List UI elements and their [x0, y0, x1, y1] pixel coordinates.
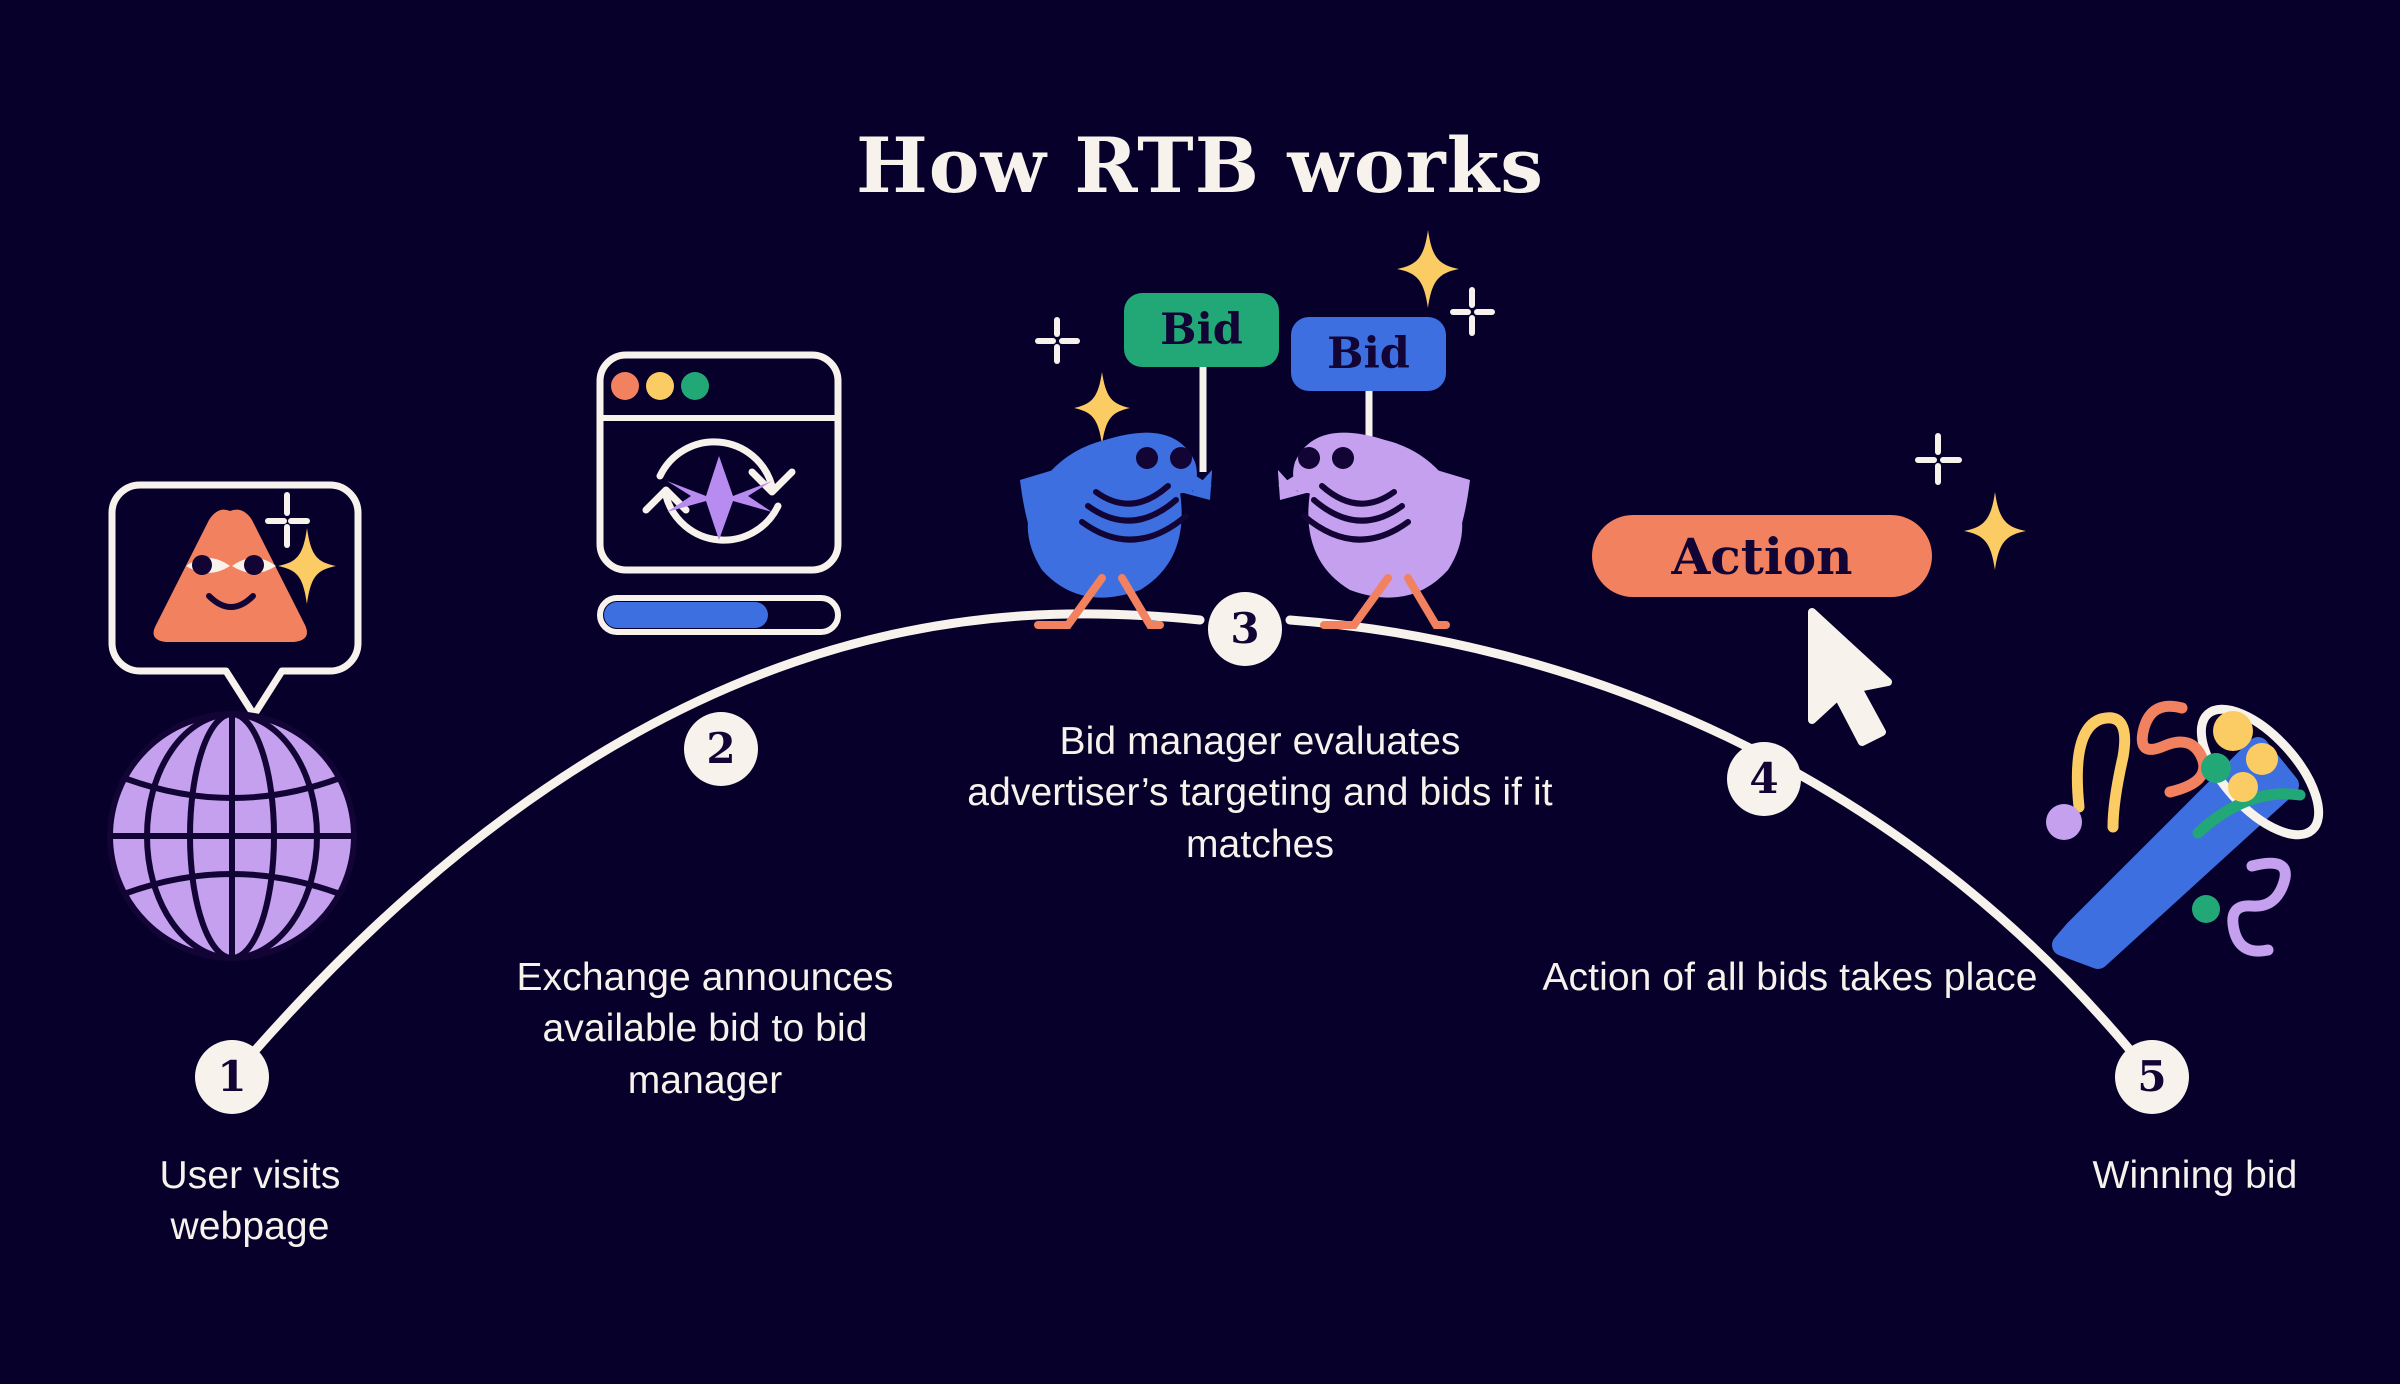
- step2-illustration: [600, 355, 838, 632]
- smiling-triangle-face-icon: [154, 510, 307, 642]
- purple-bird-icon: [1278, 433, 1470, 625]
- sparkle-cross-icon: [268, 495, 307, 545]
- bid-sign-green[interactable]: Bid: [1124, 293, 1279, 367]
- step-caption-4: Action of all bids takes place: [1540, 952, 2040, 1003]
- sparkle-star-icon: [1074, 372, 1130, 444]
- sparkle-cross-icon: [1038, 320, 1077, 361]
- sparkle-star-icon: [1964, 492, 2026, 570]
- traffic-light-dots-icon: [611, 372, 709, 400]
- step-caption-1: User visits webpage: [55, 1150, 445, 1253]
- bid-sign-blue[interactable]: Bid: [1291, 317, 1446, 391]
- progress-bar-icon[interactable]: [600, 598, 838, 632]
- sparkle-star-icon: [1397, 230, 1459, 308]
- step-caption-3: Bid manager evaluates advertiser’s targe…: [960, 716, 1560, 870]
- globe-icon: [110, 714, 354, 958]
- infographic-canvas: How RTB works Bid Bid Action 1 2 3 4 5 U…: [0, 0, 2400, 1384]
- sparkle-cross-icon: [1453, 290, 1492, 333]
- step-caption-2: Exchange announces available bid to bid …: [460, 952, 950, 1106]
- step-node-2[interactable]: 2: [684, 712, 758, 786]
- step-caption-5: Winning bid: [2000, 1150, 2390, 1201]
- blue-bird-icon: [1020, 433, 1212, 625]
- page-title: How RTB works: [0, 121, 2400, 210]
- step3-illustration: [1020, 230, 1492, 625]
- step-node-4[interactable]: 4: [1727, 742, 1801, 816]
- sparkle-cross-icon: [1918, 436, 1959, 482]
- step-node-3[interactable]: 3: [1208, 592, 1282, 666]
- action-button[interactable]: Action: [1592, 515, 1932, 597]
- step5-illustration: [2046, 690, 2339, 958]
- step-node-5[interactable]: 5: [2115, 1040, 2189, 1114]
- step-node-1[interactable]: 1: [195, 1040, 269, 1114]
- cursor-arrow-icon: [1812, 612, 1888, 742]
- step1-illustration: [110, 485, 358, 958]
